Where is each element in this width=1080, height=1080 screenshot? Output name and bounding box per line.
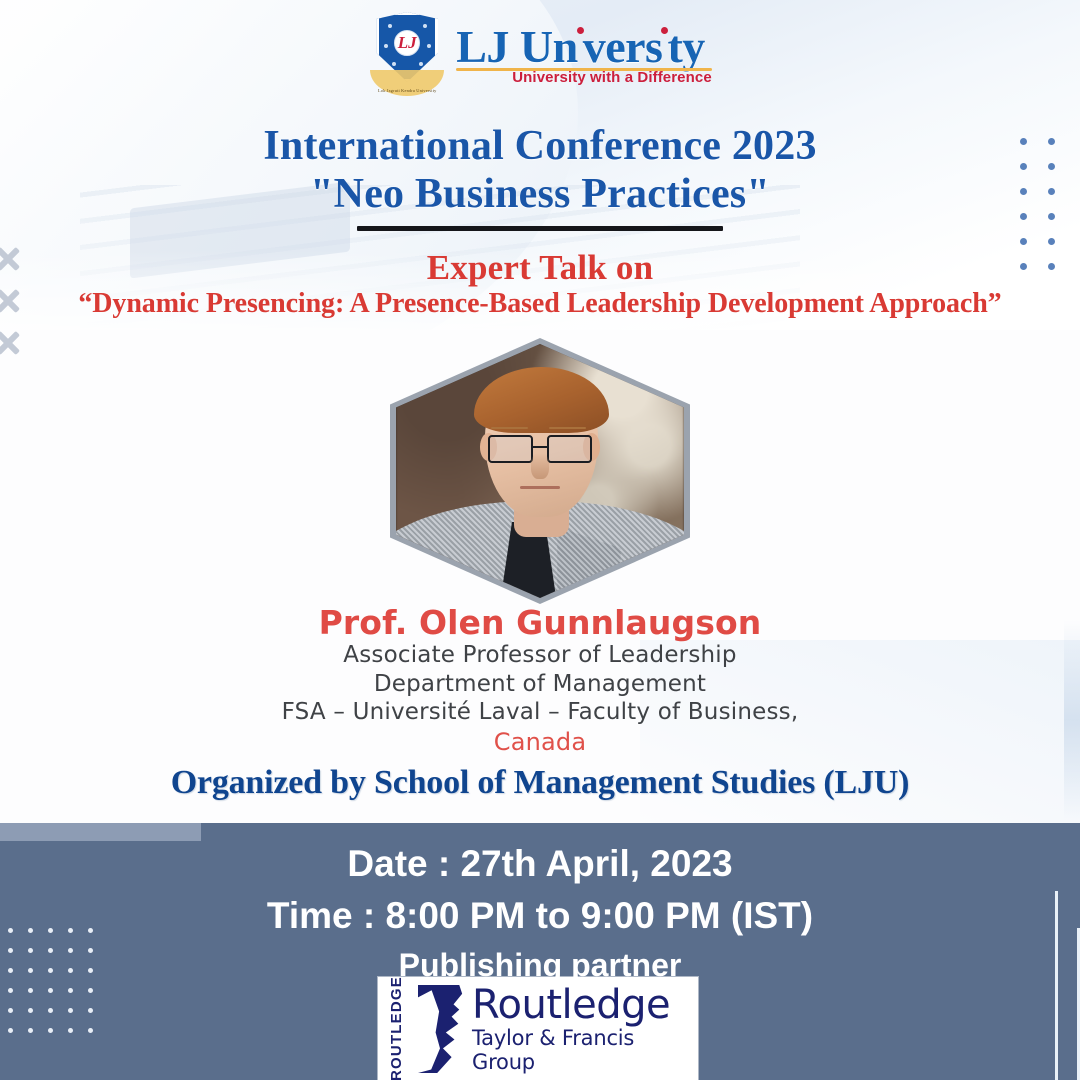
dot-icon xyxy=(8,1028,13,1033)
speaker-name: Prof. Olen Gunnlaugson xyxy=(0,603,1080,642)
page-title: International Conference 2023 "Neo Busin… xyxy=(0,122,1080,218)
portrait-brow-left xyxy=(491,427,528,430)
crest-ribbon-text: Lok Jagruti Kendra University xyxy=(372,88,442,93)
dot-icon xyxy=(88,988,93,993)
university-logo: LJ Lok Jagruti Kendra University LJ Unve… xyxy=(0,6,1080,102)
x-mark-icon xyxy=(0,329,22,357)
publisher-text-block: Routledge Taylor & Francis Group xyxy=(472,977,698,1080)
portrait-brow-right xyxy=(549,427,586,430)
speaker-affiliation: Associate Professor of Leadership Depart… xyxy=(0,641,1080,727)
dot-icon xyxy=(28,1008,33,1013)
publisher-name: Routledge xyxy=(472,984,690,1026)
publisher-vertical-text-block: ROUTLEDGE xyxy=(378,977,414,1080)
conference-line-2: "Neo Business Practices" xyxy=(0,170,1080,218)
dot-icon xyxy=(48,988,53,993)
event-poster: LJ Lok Jagruti Kendra University LJ Unve… xyxy=(0,0,1080,1080)
dot-icon xyxy=(48,1028,53,1033)
dot-icon xyxy=(48,1008,53,1013)
footer-top-bar xyxy=(0,823,201,841)
dot-icon xyxy=(68,1028,73,1033)
portrait-nose xyxy=(531,453,548,478)
talk-title: “Dynamic Presencing: A Presence-Based Le… xyxy=(0,288,1080,320)
crest-monogram: LJ xyxy=(394,29,420,57)
organizer-line: Organized by School of Management Studie… xyxy=(0,764,1080,802)
dot-icon xyxy=(28,988,33,993)
speaker-title-line-1: Associate Professor of Leadership xyxy=(0,641,1080,670)
portrait-glasses-right xyxy=(547,435,592,463)
routledge-face-mark-icon xyxy=(414,977,472,1080)
dot-icon xyxy=(8,1008,13,1013)
publisher-group: Taylor & Francis Group xyxy=(472,1026,690,1074)
dot-icon xyxy=(28,1028,33,1033)
dot-icon xyxy=(1020,238,1027,245)
conference-line-1: International Conference 2023 xyxy=(263,123,816,169)
brand-name: LJ Unversty xyxy=(456,22,705,72)
dot-icon xyxy=(68,1008,73,1013)
expert-talk-label: Expert Talk on xyxy=(0,248,1080,288)
dot-grid-footer xyxy=(8,928,108,1048)
logo-text-block: LJ Unversty University with a Difference xyxy=(456,22,712,86)
portrait-mouth xyxy=(520,486,560,489)
speaker-title-line-2: Department of Management xyxy=(0,670,1080,699)
brand-tagline: University with a Difference xyxy=(512,69,712,86)
publisher-logo: ROUTLEDGE Routledge Taylor & Francis Gro… xyxy=(378,977,698,1080)
portrait-glasses-left xyxy=(488,435,533,463)
dot-icon xyxy=(88,1008,93,1013)
lj-shield-crest-icon: LJ Lok Jagruti Kendra University xyxy=(368,10,446,98)
dot-icon xyxy=(1048,238,1055,245)
speaker-title-line-3: FSA – Université Laval – Faculty of Busi… xyxy=(0,698,1080,727)
publisher-vertical-text: ROUTLEDGE xyxy=(388,976,405,1080)
title-divider xyxy=(357,226,723,231)
dot-icon xyxy=(8,988,13,993)
event-time: Time : 8:00 PM to 9:00 PM (IST) xyxy=(0,895,1080,937)
speaker-country: Canada xyxy=(0,728,1080,756)
portrait-glasses-bridge xyxy=(533,446,547,449)
dot-icon xyxy=(68,988,73,993)
dot-icon xyxy=(88,1028,93,1033)
event-date: Date : 27th April, 2023 xyxy=(0,843,1080,885)
